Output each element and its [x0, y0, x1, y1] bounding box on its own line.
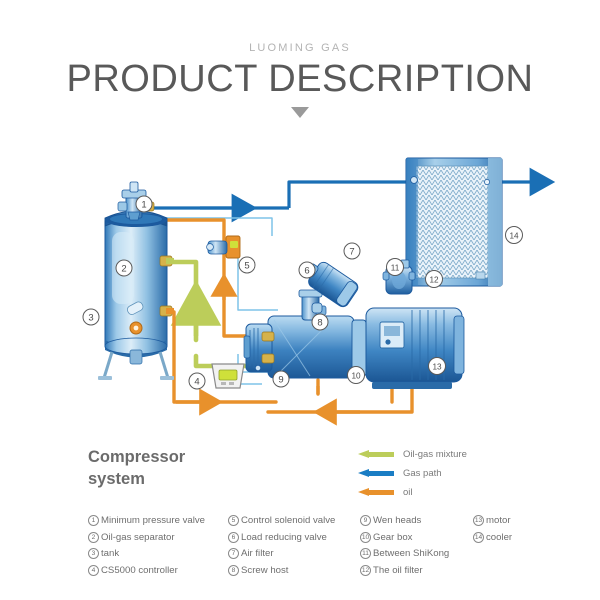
motor-equipment	[366, 308, 464, 389]
component-list-item: 3tank	[88, 546, 228, 563]
component-number: 11	[360, 548, 371, 559]
component-list-item: 7Air filter	[228, 546, 360, 563]
component-label: tank	[101, 548, 119, 559]
component-list-item: 1Minimum pressure valve	[88, 513, 228, 530]
component-number: 2	[88, 532, 99, 543]
component-list-column-2: 5Control solenoid valve6Load reducing va…	[228, 513, 360, 579]
component-number: 1	[88, 515, 99, 526]
component-number: 5	[228, 515, 239, 526]
component-list-item: 11Between ShiKong	[360, 546, 473, 563]
component-number: 9	[360, 515, 371, 526]
left-arrow-icon	[358, 488, 394, 497]
page-title: PRODUCT DESCRIPTION	[0, 60, 600, 98]
cooler-equipment	[406, 158, 502, 286]
page-header: LUOMING GAS PRODUCT DESCRIPTION	[0, 0, 600, 118]
component-number: 10	[360, 532, 371, 543]
component-label: Oil-gas separator	[101, 532, 175, 543]
left-arrow-icon	[358, 469, 394, 478]
flow-legend: Oil-gas mixture Gas path oil	[358, 447, 558, 504]
component-list-item: 4CS5000 controller	[88, 563, 228, 580]
component-list-column-3: 9Wen heads10Gear box11Between ShiKong12T…	[360, 513, 473, 579]
component-number: 6	[228, 532, 239, 543]
component-label: Minimum pressure valve	[101, 515, 205, 526]
component-label: The oil filter	[373, 565, 423, 576]
screw-host-compressor	[244, 256, 366, 378]
component-list-column-1: 1Minimum pressure valve2Oil-gas separato…	[88, 513, 228, 579]
legend-item-oil: oil	[358, 485, 558, 500]
component-label: Air filter	[241, 548, 274, 559]
component-number: 3	[88, 548, 99, 559]
component-list-item: 13motor	[473, 513, 553, 530]
component-list-column-4: 13motor14cooler	[473, 513, 553, 579]
brand-subtitle: LUOMING GAS	[0, 42, 600, 54]
compressor-system-diagram	[0, 140, 600, 430]
system-title-line-2: system	[88, 468, 238, 490]
component-list-item: 9Wen heads	[360, 513, 473, 530]
component-label: cooler	[486, 532, 512, 543]
system-title-line-1: Compressor	[88, 446, 238, 468]
component-list-item: 2Oil-gas separator	[88, 530, 228, 547]
component-list-item: 8Screw host	[228, 563, 360, 580]
component-list-item: 14cooler	[473, 530, 553, 547]
component-list-item: 6Load reducing valve	[228, 530, 360, 547]
legend-label: Gas path	[403, 468, 442, 479]
component-number: 12	[360, 565, 371, 576]
compressor-system-title: Compressor system	[88, 446, 238, 491]
component-list-item: 10Gear box	[360, 530, 473, 547]
pipe-gas-path	[143, 182, 410, 208]
legend-item-oil-gas-mixture: Oil-gas mixture	[358, 447, 558, 462]
component-list: 1Minimum pressure valve2Oil-gas separato…	[88, 513, 558, 579]
left-arrow-icon	[358, 450, 394, 459]
component-list-item: 12The oil filter	[360, 563, 473, 580]
component-label: motor	[486, 515, 511, 526]
oil-gas-separator-tank	[98, 211, 174, 380]
component-label: Wen heads	[373, 515, 421, 526]
component-list-item: 5Control solenoid valve	[228, 513, 360, 530]
component-label: Gear box	[373, 532, 412, 543]
component-number: 7	[228, 548, 239, 559]
component-label: Between ShiKong	[373, 548, 449, 559]
legend-label: Oil-gas mixture	[403, 449, 467, 460]
product-description-page: LUOMING GAS PRODUCT DESCRIPTION	[0, 0, 600, 600]
legend-label: oil	[403, 487, 413, 498]
cs5000-controller	[212, 364, 244, 388]
component-label: CS5000 controller	[101, 565, 178, 576]
component-label: Screw host	[241, 565, 288, 576]
legend-item-gas-path: Gas path	[358, 466, 558, 481]
component-number: 13	[473, 515, 484, 526]
component-label: Control solenoid valve	[241, 515, 335, 526]
component-number: 4	[88, 565, 99, 576]
component-number: 8	[228, 565, 239, 576]
component-label: Load reducing valve	[241, 532, 327, 543]
component-number: 14	[473, 532, 484, 543]
chevron-down-icon	[291, 107, 309, 118]
